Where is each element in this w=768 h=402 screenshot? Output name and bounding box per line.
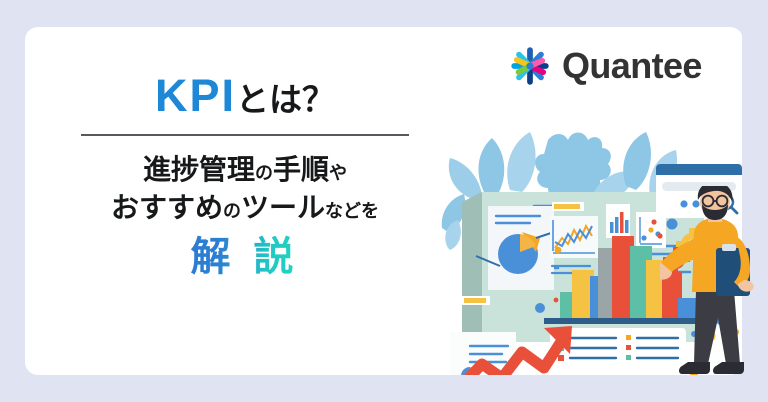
title-rest: とは？: [236, 81, 335, 118]
brand-logo[interactable]: Quantee: [508, 44, 702, 88]
subtitle-line-2: おすすめのツールなどを: [60, 189, 430, 227]
subtitle-2a: おすすめ: [111, 192, 223, 223]
title-accent: KPI: [155, 70, 236, 121]
poster-canvas: Quantee KPIとは？ 進捗管理の手順や おすすめのツールなどを 解 説: [0, 0, 768, 402]
subtitle-2d: などを: [325, 201, 379, 221]
mini-bar-chart-card: [606, 204, 630, 238]
page-title: KPIとは？: [60, 72, 430, 119]
bottom-margin-mask: [25, 375, 743, 402]
board-side: [462, 192, 482, 352]
subtitle-2b: の: [223, 201, 241, 221]
subtitle-1b: の: [255, 163, 273, 183]
subtitle-2c: ツール: [241, 192, 325, 223]
subtitle-1c: 手順: [273, 154, 329, 185]
person-shoe-left: [679, 362, 710, 374]
pie-chart-card: [488, 206, 554, 290]
quantee-pinwheel-logo-icon: [508, 44, 552, 88]
subtitle-line-1: 進捗管理の手順や: [60, 151, 430, 189]
brand-wordmark: Quantee: [562, 48, 702, 84]
person-shoe-right: [713, 362, 744, 374]
emphasis-text: 解 説: [190, 235, 299, 279]
headline-block: KPIとは？ 進捗管理の手順や おすすめのツールなどを 解 説: [60, 72, 430, 279]
presenter-person-illustration: [660, 186, 768, 402]
title-divider: [81, 134, 409, 136]
person-pants: [694, 290, 740, 364]
subtitle-block: 進捗管理の手順や おすすめのツールなどを: [60, 151, 430, 226]
subtitle-1d: や: [329, 163, 347, 183]
subtitle-1a: 進捗管理: [143, 154, 255, 185]
